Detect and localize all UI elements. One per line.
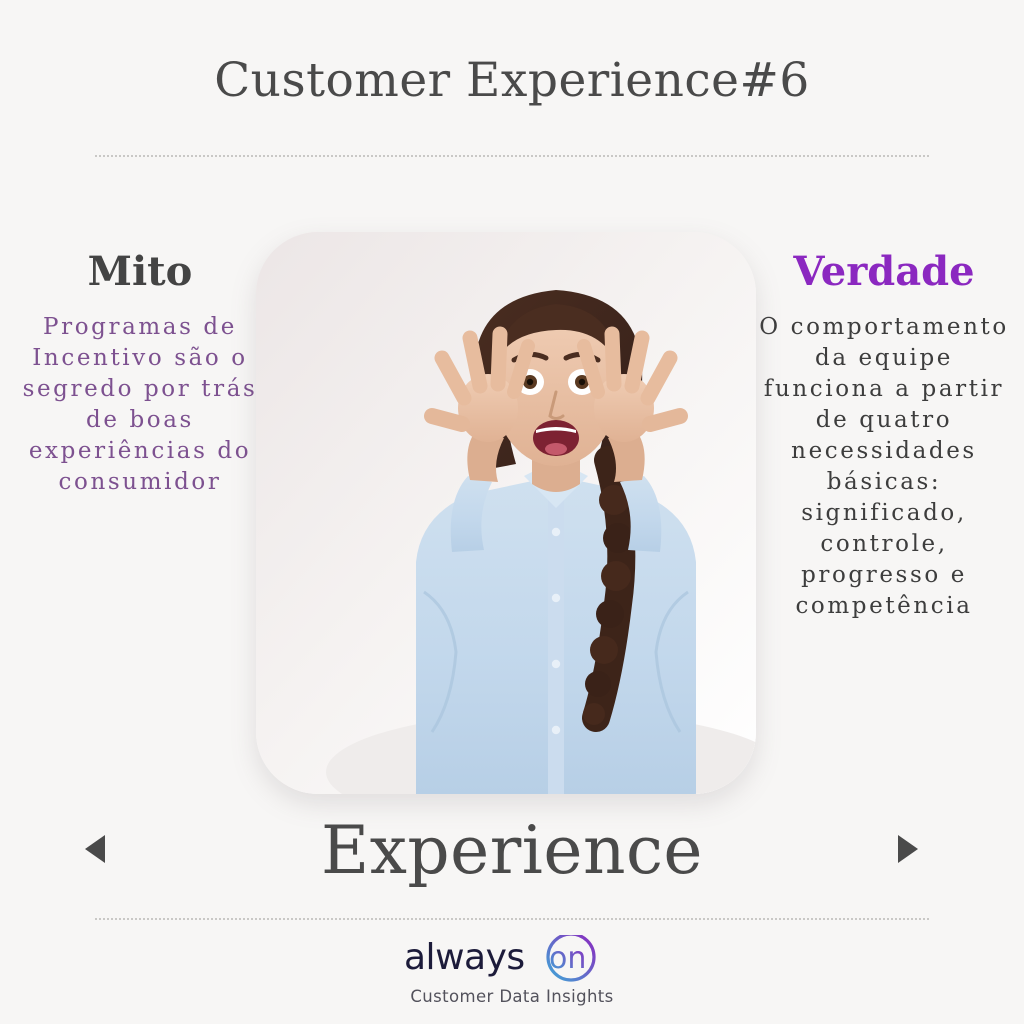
photo-card xyxy=(256,232,756,794)
logo-tagline: Customer Data Insights xyxy=(0,987,1024,1006)
column-mito-heading: Mito xyxy=(6,250,274,294)
column-verdade: Verdade O comportamento da equipe funcio… xyxy=(750,250,1018,622)
footer-word: Experience xyxy=(0,812,1024,889)
divider-bottom xyxy=(95,918,929,920)
divider-top xyxy=(95,155,929,157)
column-verdade-body: O comportamento da equipe funciona a par… xyxy=(750,312,1018,622)
column-verdade-heading: Verdade xyxy=(750,250,1018,294)
chevron-right-icon xyxy=(898,835,918,863)
page-title: Customer Experience#6 xyxy=(0,55,1024,107)
slide-canvas: Customer Experience#6 Mito Programas de … xyxy=(0,0,1024,1024)
next-arrow-button[interactable] xyxy=(891,832,925,866)
svg-text:always: always xyxy=(404,937,525,978)
photo-image xyxy=(256,232,756,794)
svg-text:on: on xyxy=(549,941,586,976)
brand-logo: always on Customer Data Insights xyxy=(0,935,1024,1006)
alwayson-logo-icon: always on xyxy=(404,935,620,983)
surprised-woman-photo-illustration xyxy=(256,232,756,794)
column-mito: Mito Programas de Incentivo são o segred… xyxy=(6,250,274,498)
column-mito-body: Programas de Incentivo são o segredo por… xyxy=(6,312,274,498)
